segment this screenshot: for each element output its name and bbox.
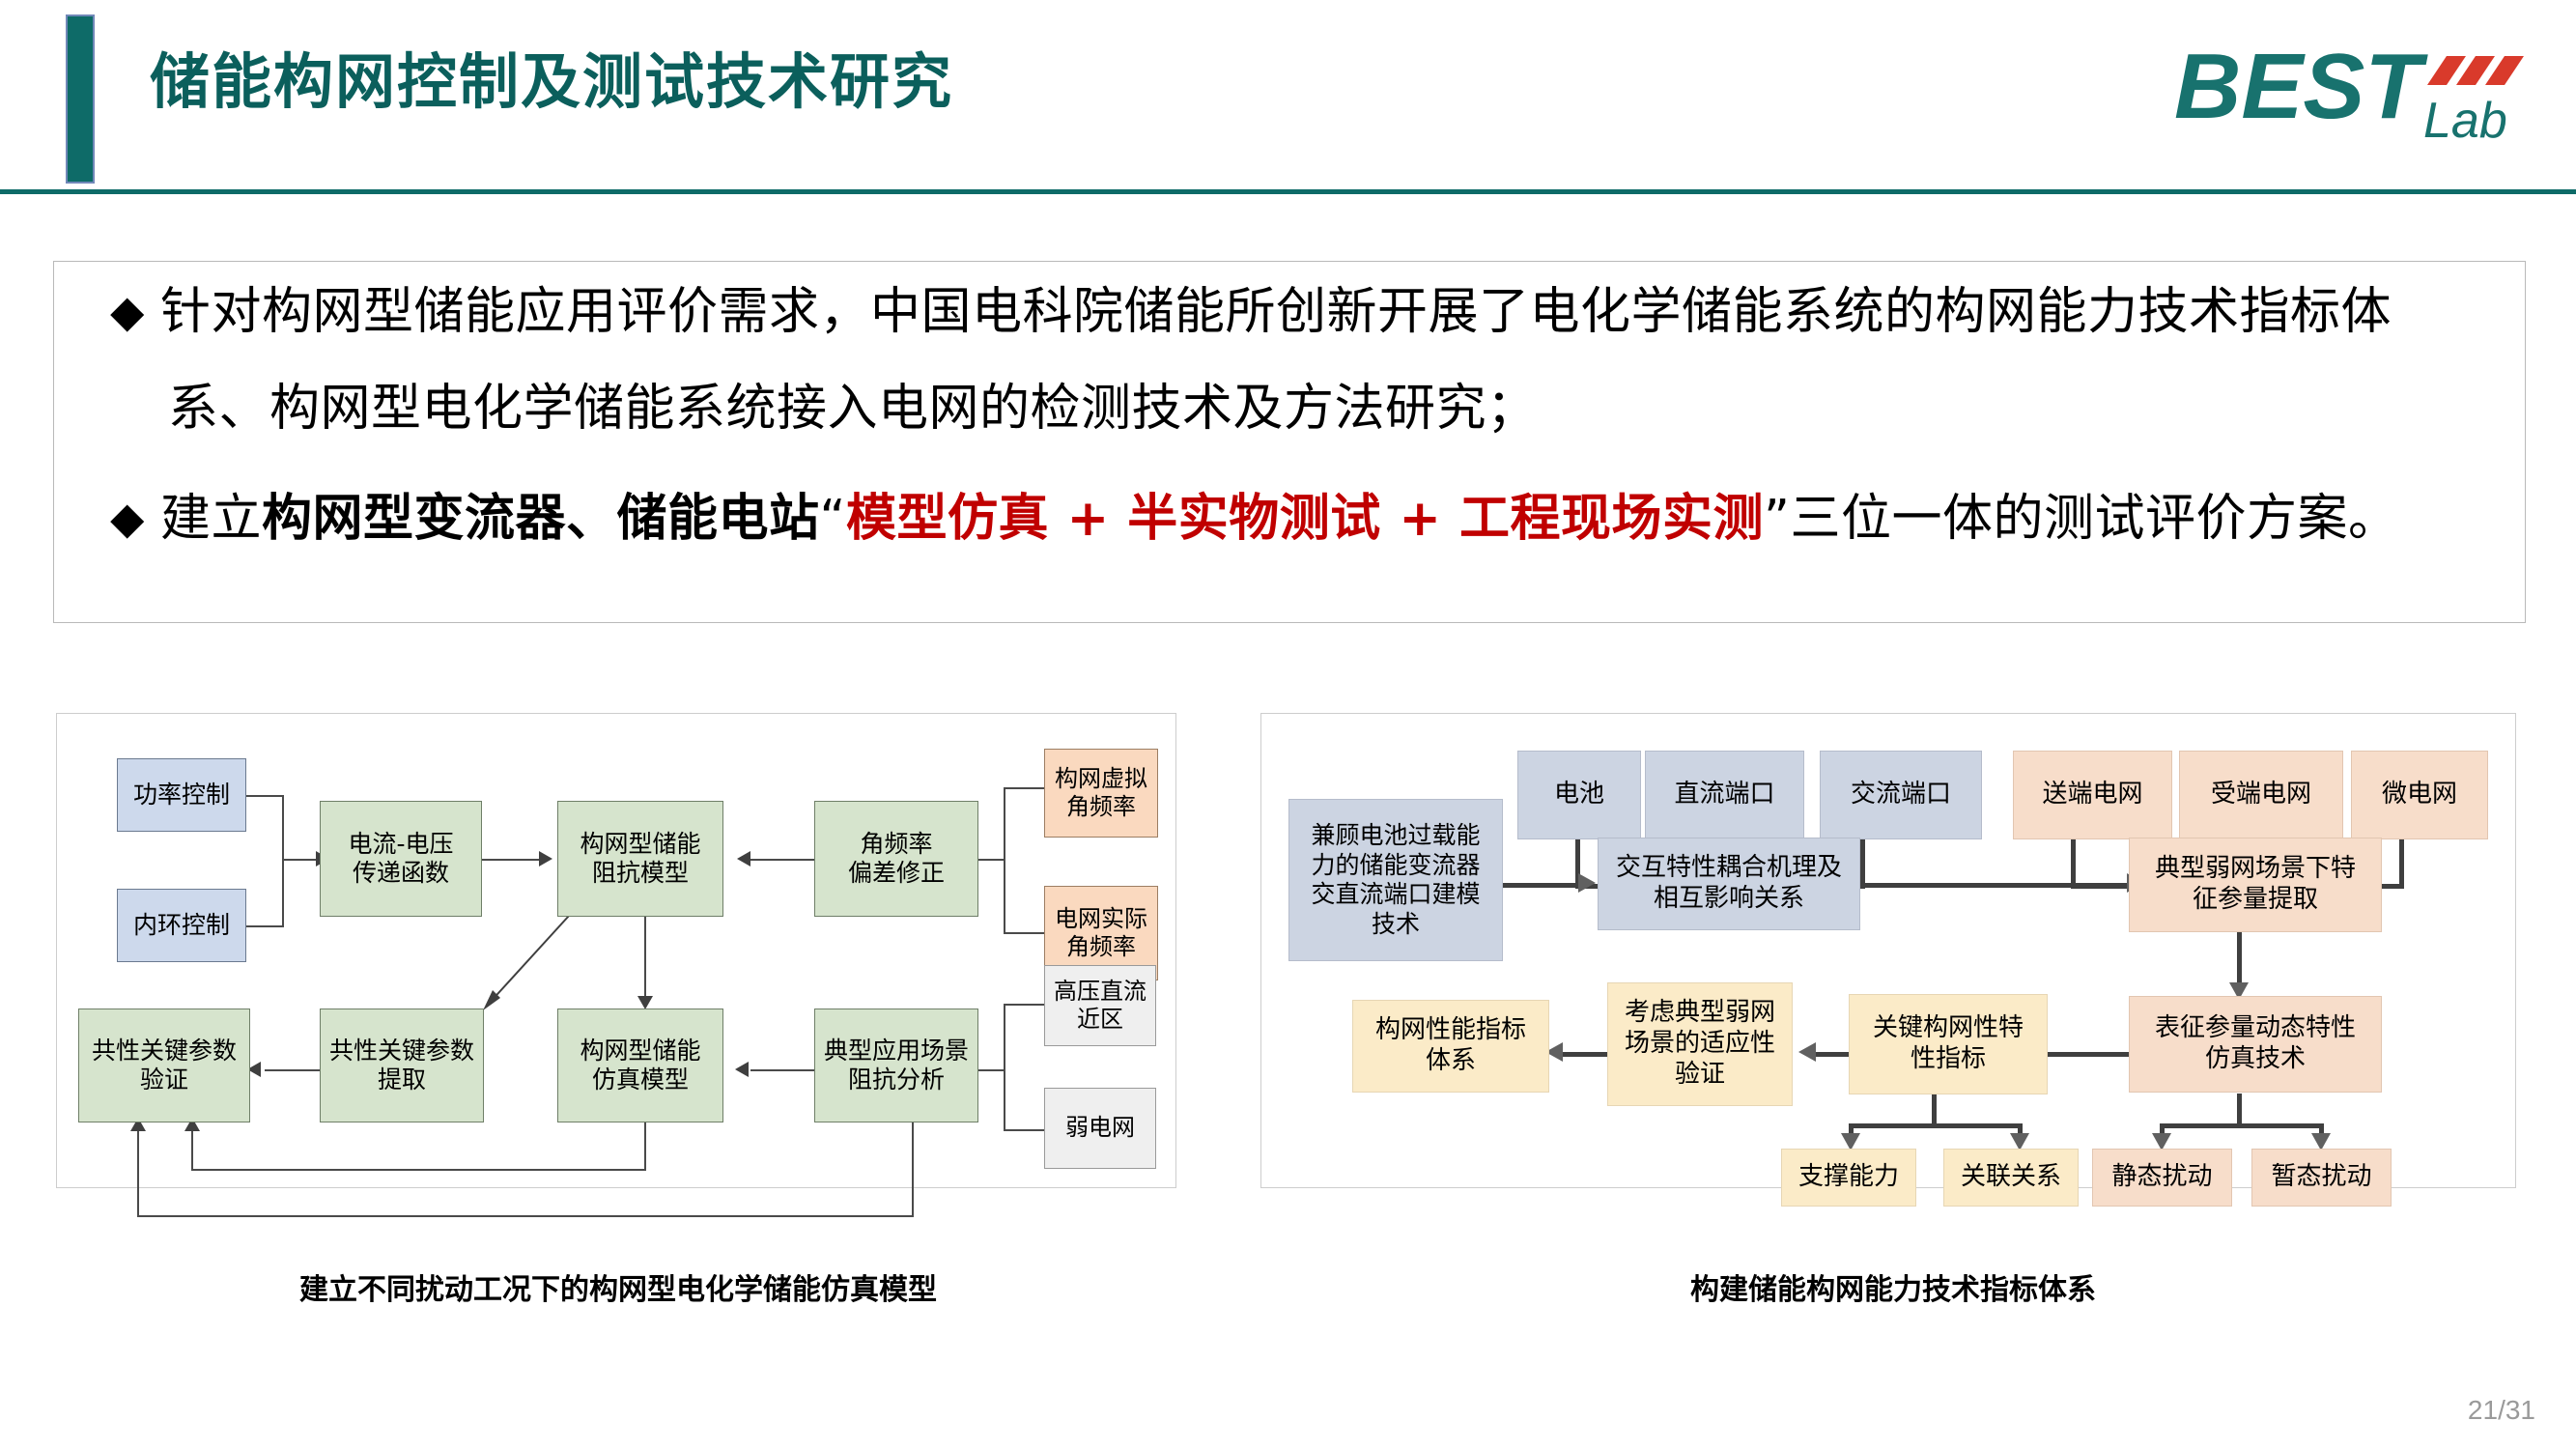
node-adaptability-verify[interactable]: 考虑典型弱网 场景的适应性 验证 bbox=[1607, 982, 1793, 1106]
node-key-gfm-indicators[interactable]: 关键构网性特 性指标 bbox=[1849, 994, 2048, 1094]
node-transient-disturbance[interactable]: 暂态扰动 bbox=[2251, 1149, 2392, 1207]
left-diagram-caption: 建立不同扰动工况下的构网型电化学储能仿真模型 bbox=[0, 1265, 1236, 1308]
connector bbox=[1849, 1123, 2023, 1128]
node-virtual-angular-freq[interactable]: 构网虚拟 角频率 bbox=[1044, 749, 1158, 838]
arrow-head bbox=[735, 1062, 749, 1077]
bullet-2-line: 建立构网型变流器、储能电站“模型仿真 + 半实物测试 + 工程现场实测”三位一体… bbox=[160, 469, 2399, 570]
node-micro-grid[interactable]: 微电网 bbox=[2351, 751, 2488, 839]
left-diagram-panel: 功率控制 内环控制 电流-电压 传递函数 构网型储能 阻抗模型 角频率 偏差修正… bbox=[56, 713, 1176, 1188]
right-diagram-caption: 构建储能构网能力技术指标体系 bbox=[1275, 1265, 2511, 1308]
node-dc-port[interactable]: 直流端口 bbox=[1645, 751, 1804, 839]
connector bbox=[1559, 1052, 1609, 1057]
svg-text:Lab: Lab bbox=[2423, 93, 2507, 145]
node-current-voltage-tf[interactable]: 电流-电压 传递函数 bbox=[320, 801, 482, 917]
bullet-2-suffix: 三位一体的测试评价方案。 bbox=[1791, 490, 2399, 548]
bullet-2-quote-open: “ bbox=[820, 490, 846, 548]
connector bbox=[137, 1215, 914, 1217]
node-ac-port[interactable]: 交流端口 bbox=[1820, 751, 1982, 839]
node-pcs-port-modeling[interactable]: 兼顾电池过载能 力的储能变流器 交直流端口建模 技术 bbox=[1288, 799, 1503, 961]
node-correlation[interactable]: 关联关系 bbox=[1943, 1149, 2079, 1207]
connector bbox=[137, 1122, 139, 1217]
node-support-capability[interactable]: 支撑能力 bbox=[1781, 1149, 1916, 1207]
connector bbox=[750, 859, 814, 861]
connector bbox=[1005, 932, 1044, 934]
node-gfm-sim-model[interactable]: 构网型储能 仿真模型 bbox=[557, 1009, 723, 1122]
arrow-head bbox=[1578, 873, 1596, 893]
connector bbox=[282, 859, 319, 861]
connector bbox=[1860, 883, 2131, 888]
bullet-1-line-1: 针对构网型储能应用评价需求，中国电科院储能所创新开展了电化学储能系统的构网能力技… bbox=[160, 262, 2392, 363]
arrow-head bbox=[737, 851, 750, 867]
title-accent-bar bbox=[66, 14, 95, 184]
node-power-control[interactable]: 功率控制 bbox=[117, 758, 246, 832]
connector bbox=[912, 1121, 914, 1217]
connector bbox=[1005, 1129, 1044, 1131]
node-typical-scene-imp[interactable]: 典型应用场景 阻抗分析 bbox=[814, 1009, 978, 1122]
arrow-head bbox=[539, 851, 552, 867]
node-hvdc-near-zone[interactable]: 高压直流 近区 bbox=[1044, 965, 1156, 1046]
bullet-2-quote-close: ” bbox=[1764, 490, 1790, 548]
node-weak-grid-feature[interactable]: 典型弱网场景下特 征参量提取 bbox=[2129, 838, 2382, 932]
node-static-disturbance[interactable]: 静态扰动 bbox=[2092, 1149, 2232, 1207]
node-sending-grid[interactable]: 送端电网 bbox=[2013, 751, 2172, 839]
arrow-head bbox=[637, 996, 653, 1009]
connector bbox=[282, 795, 284, 927]
bullet-1-line-2: 系、构网型电化学储能系统接入电网的检测技术及方法研究； bbox=[168, 358, 1538, 460]
connector bbox=[1005, 787, 1044, 789]
best-lab-logo: BEST Lab bbox=[2170, 29, 2537, 145]
connector bbox=[1503, 883, 1582, 888]
connector bbox=[644, 916, 646, 999]
connector bbox=[644, 1121, 646, 1171]
connector bbox=[482, 859, 542, 861]
node-battery[interactable]: 电池 bbox=[1517, 751, 1641, 839]
page-number: 21/31 bbox=[2468, 1395, 2535, 1426]
bullet-marker-2: ◆ bbox=[110, 496, 144, 540]
node-receiving-grid[interactable]: 受端电网 bbox=[2179, 751, 2343, 839]
connector bbox=[1005, 1004, 1044, 1006]
connector bbox=[265, 1069, 325, 1071]
right-diagram-panel: 电池 直流端口 交流端口 送端电网 受端电网 微电网 兼顾电池过载能 力的储能变… bbox=[1260, 713, 2516, 1188]
connector bbox=[245, 795, 284, 797]
node-inner-loop-control[interactable]: 内环控制 bbox=[117, 889, 246, 962]
connector bbox=[2071, 839, 2076, 888]
connector bbox=[2044, 1052, 2129, 1057]
slide-header: 储能构网控制及测试技术研究 BEST Lab bbox=[0, 0, 2576, 189]
svg-text:BEST: BEST bbox=[2174, 35, 2428, 138]
connector bbox=[2237, 932, 2242, 988]
connector bbox=[1860, 839, 1865, 888]
bullet-2-highlight: 模型仿真 + 半实物测试 + 工程现场实测 bbox=[846, 490, 1764, 548]
node-coupling-mechanism[interactable]: 交互特性耦合机理及 相互影响关系 bbox=[1598, 838, 1860, 930]
connector bbox=[191, 1169, 646, 1171]
node-dynamic-sim-tech[interactable]: 表征参量动态特性 仿真技术 bbox=[2129, 996, 2382, 1093]
connector bbox=[2160, 1123, 2324, 1128]
connector bbox=[1004, 787, 1005, 934]
node-common-param-extract[interactable]: 共性关键参数 提取 bbox=[320, 1009, 484, 1122]
connector bbox=[750, 1069, 814, 1071]
connector bbox=[1004, 1004, 1005, 1131]
node-gfm-index-system[interactable]: 构网性能指标 体系 bbox=[1352, 1000, 1549, 1093]
connector bbox=[2399, 839, 2404, 888]
arrow-head bbox=[1798, 1042, 1816, 1062]
header-divider bbox=[0, 189, 2576, 194]
node-gfm-impedance-model[interactable]: 构网型储能 阻抗模型 bbox=[557, 801, 723, 917]
slide: 储能构网控制及测试技术研究 BEST Lab ◆ 针对构网型储能应用评价需求，中… bbox=[0, 0, 2576, 1449]
bullet-2-prefix: 建立 bbox=[160, 490, 262, 548]
connector bbox=[245, 925, 284, 927]
node-common-param-verify[interactable]: 共性关键参数 验证 bbox=[78, 1009, 250, 1122]
page-title: 储能构网控制及测试技术研究 bbox=[150, 33, 953, 120]
node-weak-grid[interactable]: 弱电网 bbox=[1044, 1088, 1156, 1169]
bullet-2-bold: 构网型变流器、储能电站 bbox=[262, 490, 820, 548]
bullet-marker-1: ◆ bbox=[110, 289, 144, 333]
summary-text-box: ◆ 针对构网型储能应用评价需求，中国电科院储能所创新开展了电化学储能系统的构网能… bbox=[53, 261, 2526, 623]
node-angular-freq-correct[interactable]: 角频率 偏差修正 bbox=[814, 801, 978, 917]
